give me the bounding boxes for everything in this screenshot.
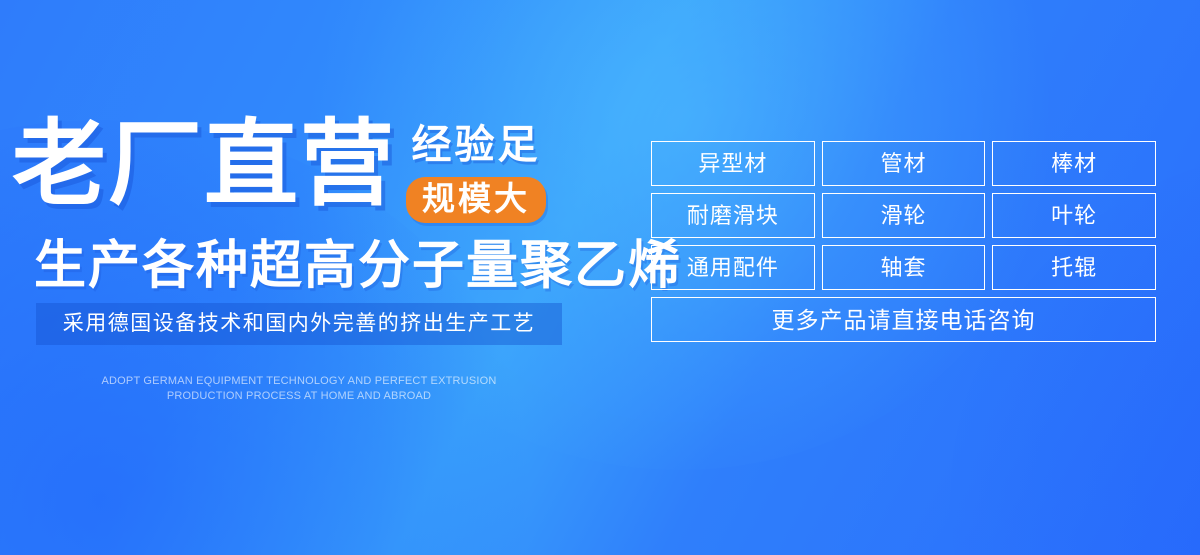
tagline-english-line-1: ADOPT GERMAN EQUIPMENT TECHNOLOGY AND PE… [36, 374, 562, 389]
product-grid-row: 异型材 管材 棒材 [651, 141, 1156, 186]
tagline-english-line-2: PRODUCTION PROCESS AT HOME AND ABROAD [36, 389, 562, 404]
headline-row: 老厂直营 经验足 规模大 [12, 112, 546, 223]
product-category-grid: 异型材 管材 棒材 耐磨滑块 滑轮 叶轮 通用配件 [651, 141, 1156, 342]
product-cell-tuogun[interactable]: 托辊 [992, 245, 1156, 290]
product-cell-yelun[interactable]: 叶轮 [992, 193, 1156, 238]
product-cell-yixingcai[interactable]: 异型材 [651, 141, 815, 186]
product-cell-tongyongpeijian[interactable]: 通用配件 [651, 245, 815, 290]
experience-badge-label: 经验足 [412, 122, 541, 168]
product-cell-zhoutao[interactable]: 轴套 [822, 245, 986, 290]
product-cell-guancai[interactable]: 管材 [822, 141, 986, 186]
headline-subtitle: 生产各种超高分子量聚乙烯 [34, 236, 682, 296]
more-products-contact-cell[interactable]: 更多产品请直接电话咨询 [651, 297, 1156, 342]
product-cell-label: 棒材 [1051, 151, 1097, 177]
product-cell-label: 通用配件 [687, 255, 779, 281]
tagline-bar-label: 采用德国设备技术和国内外完善的挤出生产工艺 [63, 311, 536, 337]
headline-block: 老厂直营 经验足 规模大 生产各种超高分子量聚乙烯 采用德国设备技术和国内外完善… [0, 0, 620, 555]
more-products-contact-label: 更多产品请直接电话咨询 [772, 307, 1036, 333]
tagline-english: ADOPT GERMAN EQUIPMENT TECHNOLOGY AND PE… [36, 374, 562, 404]
product-cell-hualun[interactable]: 滑轮 [822, 193, 986, 238]
page-title: 老厂直营 [12, 112, 396, 216]
tagline-bar: 采用德国设备技术和国内外完善的挤出生产工艺 [36, 303, 562, 345]
product-cell-label: 轴套 [881, 255, 927, 281]
promotional-banner: 老厂直营 经验足 规模大 生产各种超高分子量聚乙烯 采用德国设备技术和国内外完善… [0, 0, 1200, 555]
product-cell-label: 叶轮 [1051, 203, 1097, 229]
product-cell-label: 滑轮 [881, 203, 927, 229]
product-cell-bangcai[interactable]: 棒材 [992, 141, 1156, 186]
product-cell-label: 管材 [881, 151, 927, 177]
product-grid-row: 耐磨滑块 滑轮 叶轮 [651, 193, 1156, 238]
product-cell-naimohuakuai[interactable]: 耐磨滑块 [651, 193, 815, 238]
product-cell-label: 托辊 [1051, 255, 1097, 281]
headline-badge-stack: 经验足 规模大 [406, 122, 546, 223]
scale-badge-pill: 规模大 [406, 177, 546, 223]
product-cell-label: 耐磨滑块 [687, 203, 779, 229]
product-grid-row: 通用配件 轴套 托辊 [651, 245, 1156, 290]
product-cell-label: 异型材 [698, 151, 767, 177]
